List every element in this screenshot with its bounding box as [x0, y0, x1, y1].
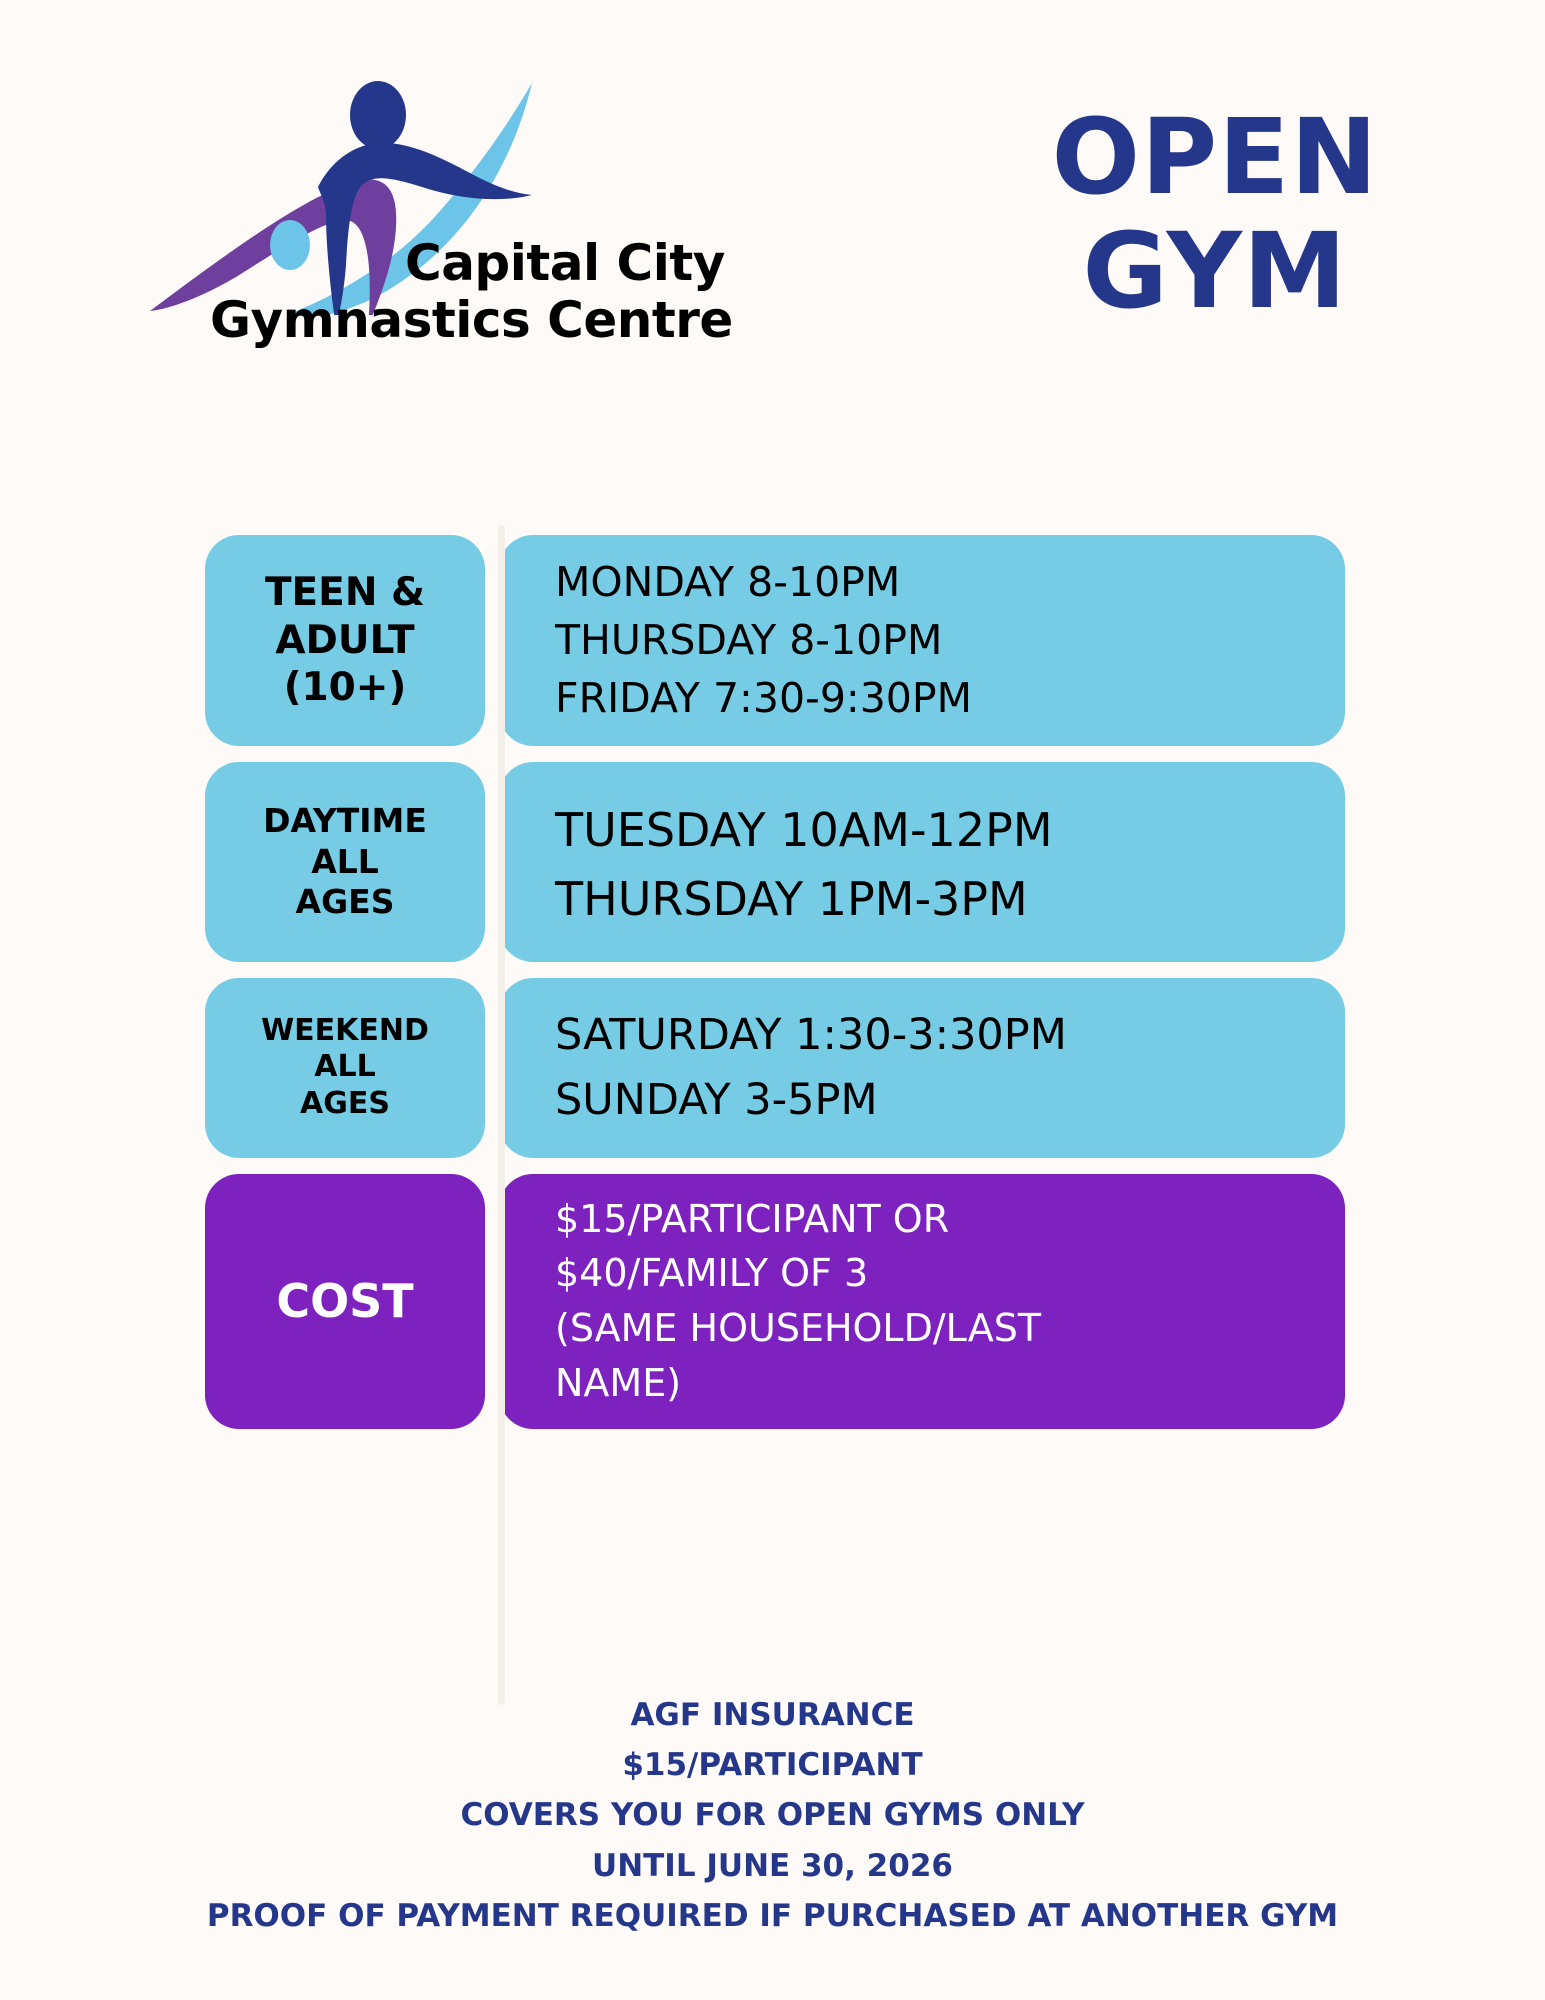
schedule-category-weekend-all-ages: WEEKEND ALL AGES [205, 978, 485, 1158]
category-label: WEEKEND ALL AGES [261, 1013, 429, 1123]
table-row: DAYTIME ALL AGES TUESDAY 10AM-12PM THURS… [205, 762, 1345, 962]
footer-line: PROOF OF PAYMENT REQUIRED IF PURCHASED A… [0, 1891, 1545, 1941]
table-row: COST $15/PARTICIPANT OR $40/FAMILY OF 3 … [205, 1174, 1345, 1429]
footer-line: $15/PARTICIPANT [0, 1740, 1545, 1790]
category-label: DAYTIME ALL AGES [263, 801, 427, 922]
schedule-time: THURSDAY 8-10PM [555, 611, 1335, 669]
schedule-time: SATURDAY 1:30-3:30PM [555, 1003, 1335, 1068]
table-row: WEEKEND ALL AGES SATURDAY 1:30-3:30PM SU… [205, 978, 1345, 1158]
category-label: COST [276, 1273, 413, 1329]
footer-line: UNTIL JUNE 30, 2026 [0, 1841, 1545, 1891]
category-line: (10+) [284, 665, 407, 710]
schedule-time: TUESDAY 10AM-12PM [555, 796, 1335, 865]
category-line: ALL [311, 842, 379, 881]
page-title: OPEN GYM [985, 100, 1445, 329]
insurance-footer: AGF INSURANCE $15/PARTICIPANT COVERS YOU… [0, 1690, 1545, 1941]
page-title-line1: OPEN [985, 100, 1445, 214]
category-line: ALL [314, 1049, 375, 1084]
category-line: TEEN & [265, 570, 425, 615]
schedule-category-cost: COST [205, 1174, 485, 1429]
schedule-time: SUNDAY 3-5PM [555, 1068, 1335, 1133]
schedule-category-daytime-all-ages: DAYTIME ALL AGES [205, 762, 485, 962]
category-line: AGES [300, 1086, 390, 1121]
schedule-times-weekend-all-ages: SATURDAY 1:30-3:30PM SUNDAY 3-5PM [499, 978, 1345, 1158]
footer-line: COVERS YOU FOR OPEN GYMS ONLY [0, 1790, 1545, 1840]
schedule-time: FRIDAY 7:30-9:30PM [555, 669, 1335, 727]
category-line: AGES [296, 882, 395, 921]
cost-line: $15/PARTICIPANT OR [555, 1192, 1335, 1247]
schedule-time: MONDAY 8-10PM [555, 553, 1335, 611]
cost-line: $40/FAMILY OF 3 [555, 1246, 1335, 1301]
brand-name-line2: Gymnastics Centre [200, 292, 800, 349]
table-row: TEEN & ADULT (10+) MONDAY 8-10PM THURSDA… [205, 535, 1345, 746]
brand-name: Capital City Gymnastics Centre [200, 235, 800, 349]
poster-header: Capital City Gymnastics Centre OPEN GYM [0, 0, 1545, 380]
cost-line: (SAME HOUSEHOLD/LAST [555, 1301, 1335, 1356]
schedule-cost-details: $15/PARTICIPANT OR $40/FAMILY OF 3 (SAME… [499, 1174, 1345, 1429]
cost-line: NAME) [555, 1356, 1335, 1411]
brand-name-line1: Capital City [200, 235, 800, 292]
schedule-times-daytime-all-ages: TUESDAY 10AM-12PM THURSDAY 1PM-3PM [499, 762, 1345, 962]
category-line: WEEKEND [261, 1013, 429, 1048]
schedule-time: THURSDAY 1PM-3PM [555, 865, 1335, 934]
schedule-category-teen-adult: TEEN & ADULT (10+) [205, 535, 485, 746]
category-line: DAYTIME [263, 801, 427, 840]
category-label: TEEN & ADULT (10+) [265, 569, 425, 712]
page-title-line2: GYM [985, 214, 1445, 328]
footer-line: AGF INSURANCE [0, 1690, 1545, 1740]
category-line: ADULT [275, 618, 414, 663]
schedule-table: TEEN & ADULT (10+) MONDAY 8-10PM THURSDA… [205, 535, 1345, 1445]
column-divider [498, 525, 505, 1705]
schedule-times-teen-adult: MONDAY 8-10PM THURSDAY 8-10PM FRIDAY 7:3… [499, 535, 1345, 746]
brand-logo: Capital City Gymnastics Centre [140, 75, 760, 365]
